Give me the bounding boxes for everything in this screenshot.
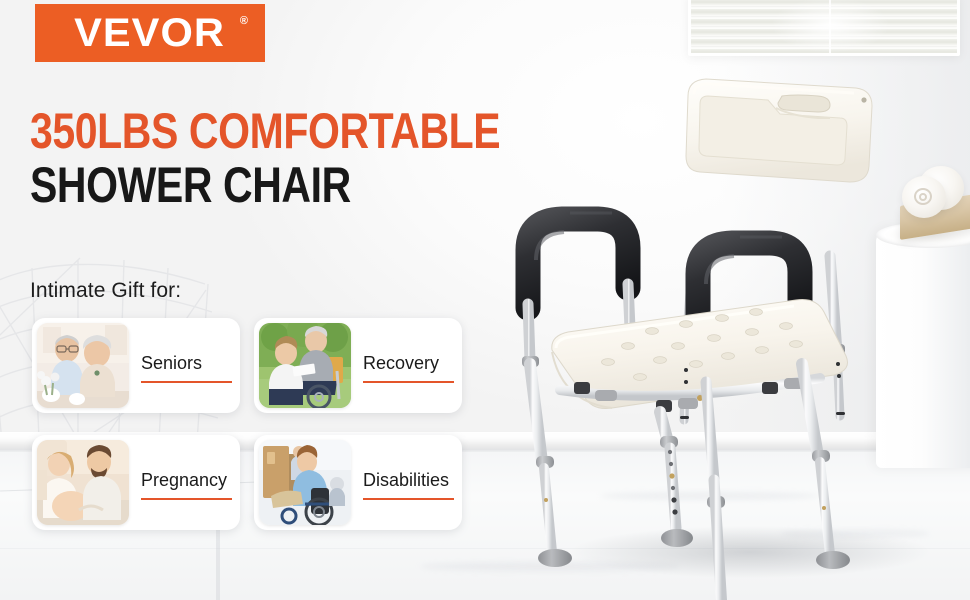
use-case-label: Seniors <box>141 353 202 373</box>
use-case-card[interactable]: Recovery <box>254 318 462 413</box>
shower-chair-product <box>500 60 970 580</box>
page-title: 350LBS COMFORTABLE SHOWER CHAIR <box>30 104 500 212</box>
use-case-card[interactable]: Pregnancy <box>32 435 240 530</box>
subheading: Intimate Gift for: <box>30 279 181 303</box>
use-case-label: Pregnancy <box>141 470 227 490</box>
leg-foot <box>538 549 572 567</box>
headline-line-2: SHOWER CHAIR <box>30 158 415 212</box>
use-case-label: Recovery <box>363 353 439 373</box>
use-case-label: Disabilities <box>363 470 449 490</box>
label-underline <box>363 498 454 500</box>
text-panel: VEVOR ® 350LBS COMFORTABLE SHOWER CHAIR … <box>0 0 500 600</box>
window-with-blinds <box>688 0 960 56</box>
card-label-wrap: Pregnancy <box>141 469 232 496</box>
logo-wordmark: VEVOR <box>75 13 226 53</box>
product-banner: VEVOR ® 350LBS COMFORTABLE SHOWER CHAIR … <box>0 0 970 600</box>
label-underline <box>141 381 232 383</box>
pregnancy-couple-photo <box>37 440 129 525</box>
card-label-wrap: Recovery <box>363 352 454 379</box>
use-case-card[interactable]: Seniors <box>32 318 240 413</box>
registered-mark-icon: ® <box>240 15 248 27</box>
chair-shadow <box>570 526 930 578</box>
card-label-wrap: Disabilities <box>363 469 454 496</box>
label-underline <box>363 381 454 383</box>
recovery-caregiver-photo <box>259 323 351 408</box>
use-case-card[interactable]: Disabilities <box>254 435 462 530</box>
card-label-wrap: Seniors <box>141 352 232 379</box>
armrest-left <box>528 213 628 308</box>
label-underline <box>141 498 232 500</box>
use-case-card-list: Seniors <box>32 318 482 538</box>
seniors-couple-photo <box>37 323 129 408</box>
disabilities-wheelchair-photo <box>259 440 351 525</box>
headline-line-1: 350LBS COMFORTABLE <box>30 104 415 158</box>
vevor-logo: VEVOR ® <box>35 4 265 62</box>
